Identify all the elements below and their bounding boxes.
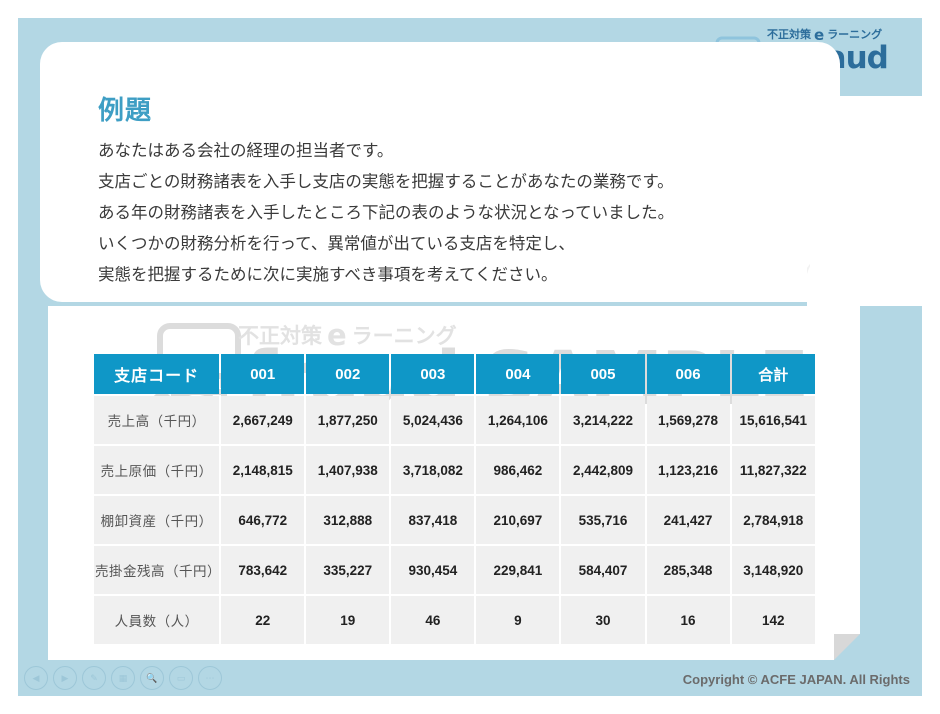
cell-cogs-005: 2,442,809 [561, 446, 644, 494]
table-row: 棚卸資産（千円） 646,772 312,888 837,418 210,697… [94, 496, 815, 544]
table-row: 売上高（千円） 2,667,249 1,877,250 5,024,436 1,… [94, 396, 815, 444]
cell-receivables-004: 229,841 [476, 546, 559, 594]
cell-cogs-004: 986,462 [476, 446, 559, 494]
cell-headcount-002: 19 [306, 596, 389, 644]
cell-sales-001: 2,667,249 [221, 396, 304, 444]
watermark-tagline-pre: 不正対策 [238, 320, 322, 350]
watermark-tagline-post: ラーニング [352, 320, 457, 350]
header-total: 合計 [732, 354, 815, 394]
question-body: あなたはある会社の経理の担当者です。 支店ごとの財務諸表を入手し支店の実態を把握… [98, 136, 788, 291]
cell-sales-004: 1,264,106 [476, 396, 559, 444]
table-row: 人員数（人） 22 19 46 9 30 16 142 [94, 596, 815, 644]
cell-receivables-003: 930,454 [391, 546, 474, 594]
header-branch-005: 005 [561, 354, 644, 394]
cell-sales-002: 1,877,250 [306, 396, 389, 444]
cell-inventory-003: 837,418 [391, 496, 474, 544]
body-line-3: ある年の財務諸表を入手したところ下記の表のような状況となっていました。 [98, 198, 788, 229]
previous-slide-button[interactable]: ◀ [24, 666, 48, 690]
slide-canvas: 不正対策 e ラーニング e-fraud 例題 あなたはある会社の経理の担当者で… [18, 18, 922, 696]
page-title: 例題 [98, 90, 152, 127]
footer-bar: ◀ ▶ ✎ ▦ 🔍 ▭ ⋯ Copyright © ACFE JAPAN. Al… [18, 660, 922, 696]
table-row: 売掛金残高（千円） 783,642 335,227 930,454 229,84… [94, 546, 815, 594]
cell-inventory-002: 312,888 [306, 496, 389, 544]
thinking-businessman-illustration: ? [777, 96, 922, 306]
cell-headcount-004: 9 [476, 596, 559, 644]
cell-inventory-total: 2,784,918 [732, 496, 815, 544]
cell-sales-005: 3,214,222 [561, 396, 644, 444]
cell-cogs-003: 3,718,082 [391, 446, 474, 494]
more-options-button[interactable]: ⋯ [198, 666, 222, 690]
watermark-tagline-e: e [327, 318, 347, 352]
table-row: 売上原価（千円） 2,148,815 1,407,938 3,718,082 9… [94, 446, 815, 494]
body-line-4: いくつかの財務分析を行って、異常値が出ている支店を特定し、 [98, 229, 788, 260]
header-branch-002: 002 [306, 354, 389, 394]
copyright-text: Copyright © ACFE JAPAN. All Rights [683, 672, 910, 687]
presentation-controls[interactable]: ◀ ▶ ✎ ▦ 🔍 ▭ ⋯ [24, 666, 222, 690]
cell-inventory-001: 646,772 [221, 496, 304, 544]
cell-inventory-006: 241,427 [647, 496, 730, 544]
table-body: 売上高（千円） 2,667,249 1,877,250 5,024,436 1,… [94, 396, 815, 644]
branch-financials-table: 支店コード 001 002 003 004 005 006 合計 売上高（千円）… [92, 352, 817, 646]
cell-receivables-001: 783,642 [221, 546, 304, 594]
all-slides-button[interactable]: ▦ [111, 666, 135, 690]
cell-receivables-005: 584,407 [561, 546, 644, 594]
row-label-receivables: 売掛金残高（千円） [94, 546, 219, 594]
row-label-sales: 売上高（千円） [94, 396, 219, 444]
body-line-1: あなたはある会社の経理の担当者です。 [98, 136, 788, 167]
question-panel: 例題 あなたはある会社の経理の担当者です。 支店ごとの財務諸表を入手し支店の実態… [40, 42, 840, 302]
cell-cogs-006: 1,123,216 [647, 446, 730, 494]
character-backdrop [810, 96, 922, 306]
cell-receivables-002: 335,227 [306, 546, 389, 594]
cell-headcount-006: 16 [647, 596, 730, 644]
table-head: 支店コード 001 002 003 004 005 006 合計 [94, 354, 815, 394]
cell-sales-006: 1,569,278 [647, 396, 730, 444]
body-line-2: 支店ごとの財務諸表を入手し支店の実態を把握することがあなたの業務です。 [98, 167, 788, 198]
table-header-row: 支店コード 001 002 003 004 005 006 合計 [94, 354, 815, 394]
cell-inventory-005: 535,716 [561, 496, 644, 544]
data-table-card: 不正対策 e ラーニング e-fraud SAMPLE 支店コード 001 00… [48, 306, 860, 660]
cell-headcount-total: 142 [732, 596, 815, 644]
cell-cogs-total: 11,827,322 [732, 446, 815, 494]
cell-cogs-002: 1,407,938 [306, 446, 389, 494]
row-label-cogs: 売上原価（千円） [94, 446, 219, 494]
page-fold-corner [834, 634, 860, 660]
body-line-5: 実態を把握するために次に実施すべき事項を考えてください。 [98, 260, 788, 291]
cell-sales-total: 15,616,541 [732, 396, 815, 444]
cell-receivables-006: 285,348 [647, 546, 730, 594]
row-label-inventory: 棚卸資産（千円） [94, 496, 219, 544]
row-label-headcount: 人員数（人） [94, 596, 219, 644]
watermark-tagline: 不正対策 e ラーニング [238, 318, 457, 352]
zoom-button[interactable]: 🔍 [140, 666, 164, 690]
header-branch-code: 支店コード [94, 354, 219, 394]
cell-inventory-004: 210,697 [476, 496, 559, 544]
header-branch-001: 001 [221, 354, 304, 394]
cell-sales-003: 5,024,436 [391, 396, 474, 444]
header-branch-003: 003 [391, 354, 474, 394]
pen-tool-button[interactable]: ✎ [82, 666, 106, 690]
cell-headcount-001: 22 [221, 596, 304, 644]
header-branch-004: 004 [476, 354, 559, 394]
header-branch-006: 006 [647, 354, 730, 394]
cell-receivables-total: 3,148,920 [732, 546, 815, 594]
cell-headcount-005: 30 [561, 596, 644, 644]
cell-headcount-003: 46 [391, 596, 474, 644]
next-slide-button[interactable]: ▶ [53, 666, 77, 690]
subtitles-button[interactable]: ▭ [169, 666, 193, 690]
cell-cogs-001: 2,148,815 [221, 446, 304, 494]
